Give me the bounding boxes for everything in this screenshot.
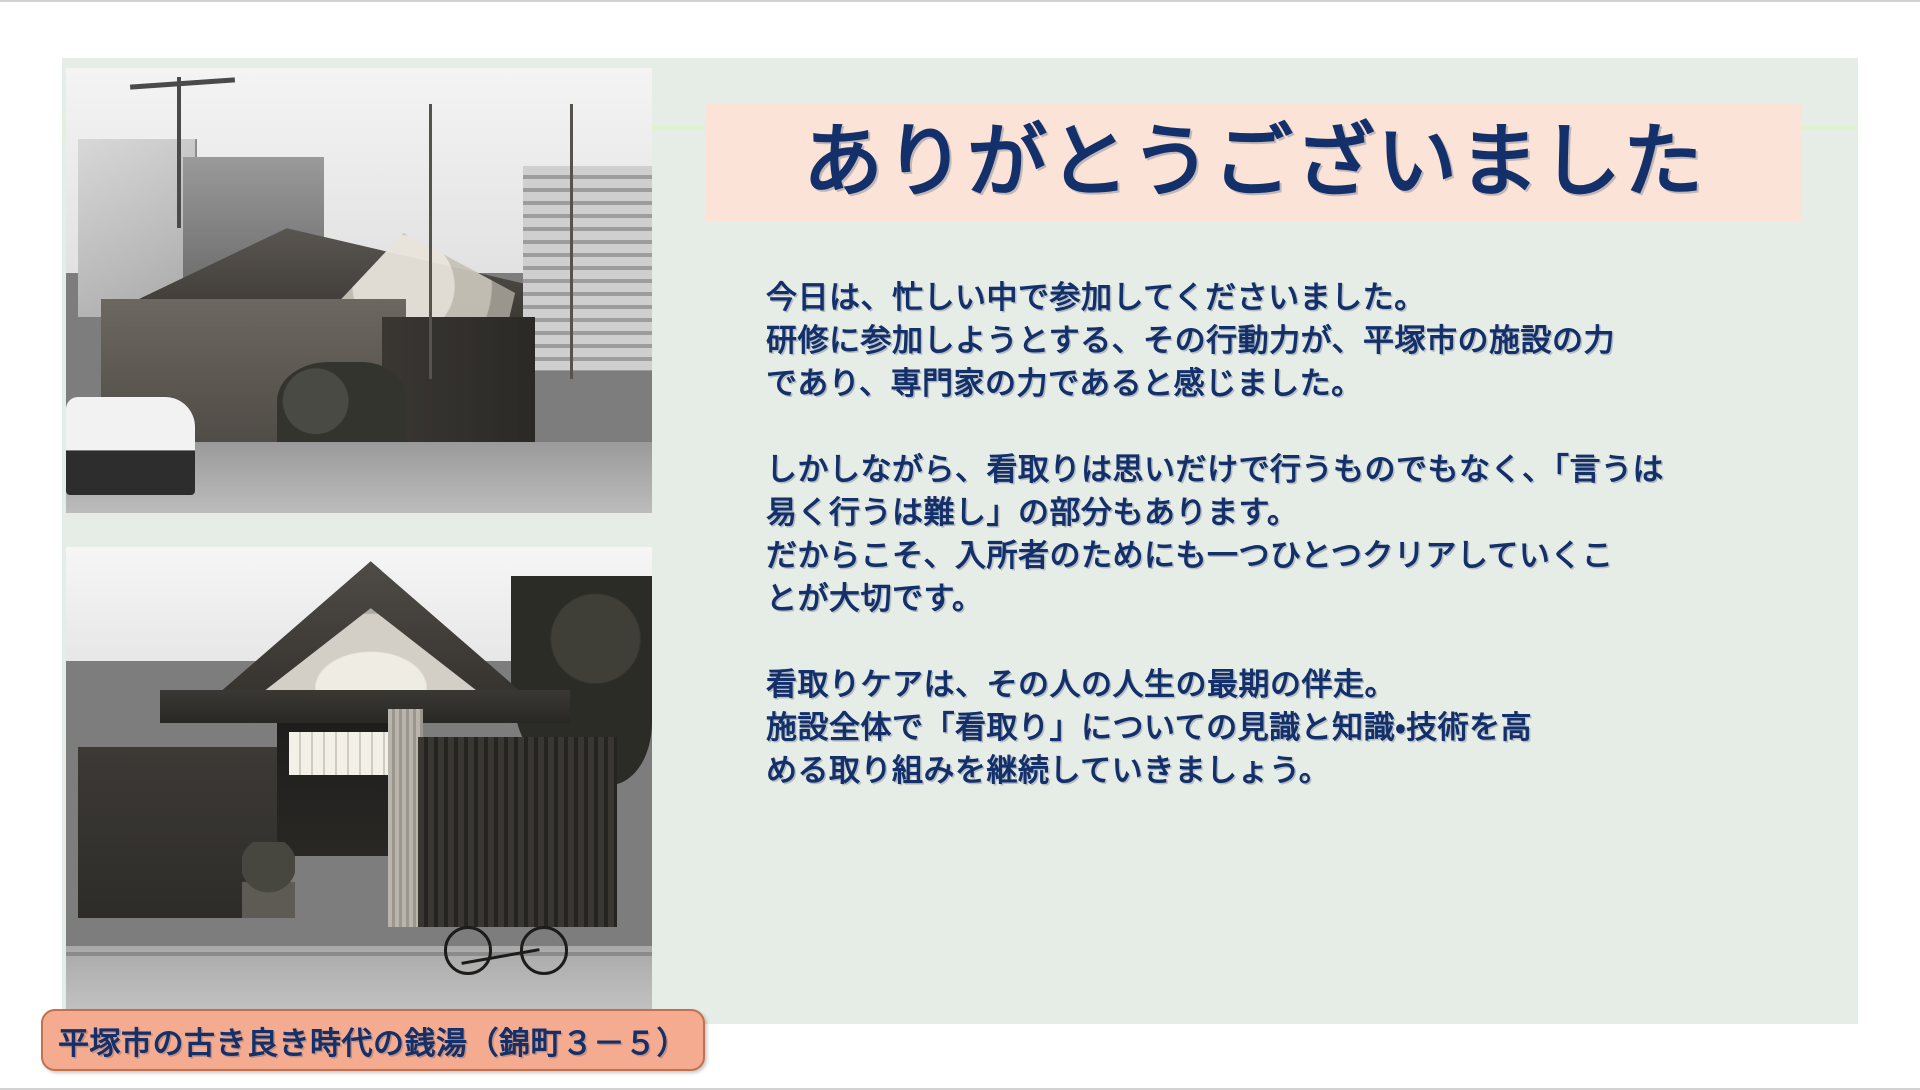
photo-building-right <box>523 166 652 371</box>
photo-bathhouse-entrance <box>66 547 652 1022</box>
paragraph-2: しかしながら、看取りは思いだけで行うものでもなく、「言うは 易く行うは難し」の部… <box>766 448 1776 620</box>
paragraph-3-line-3: める取り組みを継続していきましょう。 <box>766 749 1776 792</box>
paragraph-2-line-4: とが大切です。 <box>766 577 1776 620</box>
photo2-potted-plant <box>242 842 295 918</box>
paragraph-1-line-2: 研修に参加しようとする、その行動力が、平塚市の施設の力 <box>766 319 1776 362</box>
photo-bathhouse-street-content <box>66 68 652 513</box>
photo-utility-pole-a <box>429 104 432 380</box>
photo2-eaves <box>160 690 570 723</box>
paragraph-3: 看取りケアは、その人の人生の最期の伴走。 施設全体で「看取り」についての見識と知… <box>766 663 1776 792</box>
paragraph-2-line-2: 易く行うは難し」の部分もあります。 <box>766 491 1776 534</box>
photo2-bicycle-wheel-front <box>444 926 492 974</box>
photo-utility-pole-b <box>570 104 573 380</box>
top-edge-rule <box>0 0 1920 2</box>
photo-parked-car <box>66 397 195 495</box>
body-copy: 今日は、忙しい中で参加してくださいました。 研修に参加しようとする、その行動力が… <box>766 276 1776 792</box>
paragraph-3-line-1: 看取りケアは、その人の人生の最期の伴走。 <box>766 663 1776 706</box>
paragraph-2-line-3: だからこそ、入所者のためにも一つひとつクリアしていくこ <box>766 534 1776 577</box>
paragraph-3-line-2: 施設全体で「看取り」についての見識と知識・技術を高 <box>766 706 1776 749</box>
slide-title: ありがとうございました <box>803 122 1705 202</box>
title-banner: ありがとうございました <box>706 103 1802 221</box>
photo2-bicycle <box>441 870 582 975</box>
paragraph-2-line-1: しかしながら、看取りは思いだけで行うものでもなく、「言うは <box>766 448 1776 491</box>
slide-canvas: ありがとうございました 今日は、忙しい中で参加してくださいました。 研修に参加し… <box>0 0 1920 1090</box>
photo2-noren-curtain <box>289 732 394 775</box>
paragraph-1-line-3: であり、専門家の力であると感じました。 <box>766 362 1776 405</box>
photo-bathhouse-street <box>66 68 652 513</box>
photo-bathhouse-entrance-content <box>66 547 652 1022</box>
paragraph-1-line-1: 今日は、忙しい中で参加してくださいました。 <box>766 276 1776 319</box>
photo-crane-mast <box>177 77 181 228</box>
paragraph-1: 今日は、忙しい中で参加してくださいました。 研修に参加しようとする、その行動力が… <box>766 276 1776 405</box>
photo-caption-text: 平塚市の古き良き時代の銭湯（錦町３－５） <box>58 1018 688 1063</box>
photo-caption-pill: 平塚市の古き良き時代の銭湯（錦町３－５） <box>41 1009 705 1071</box>
